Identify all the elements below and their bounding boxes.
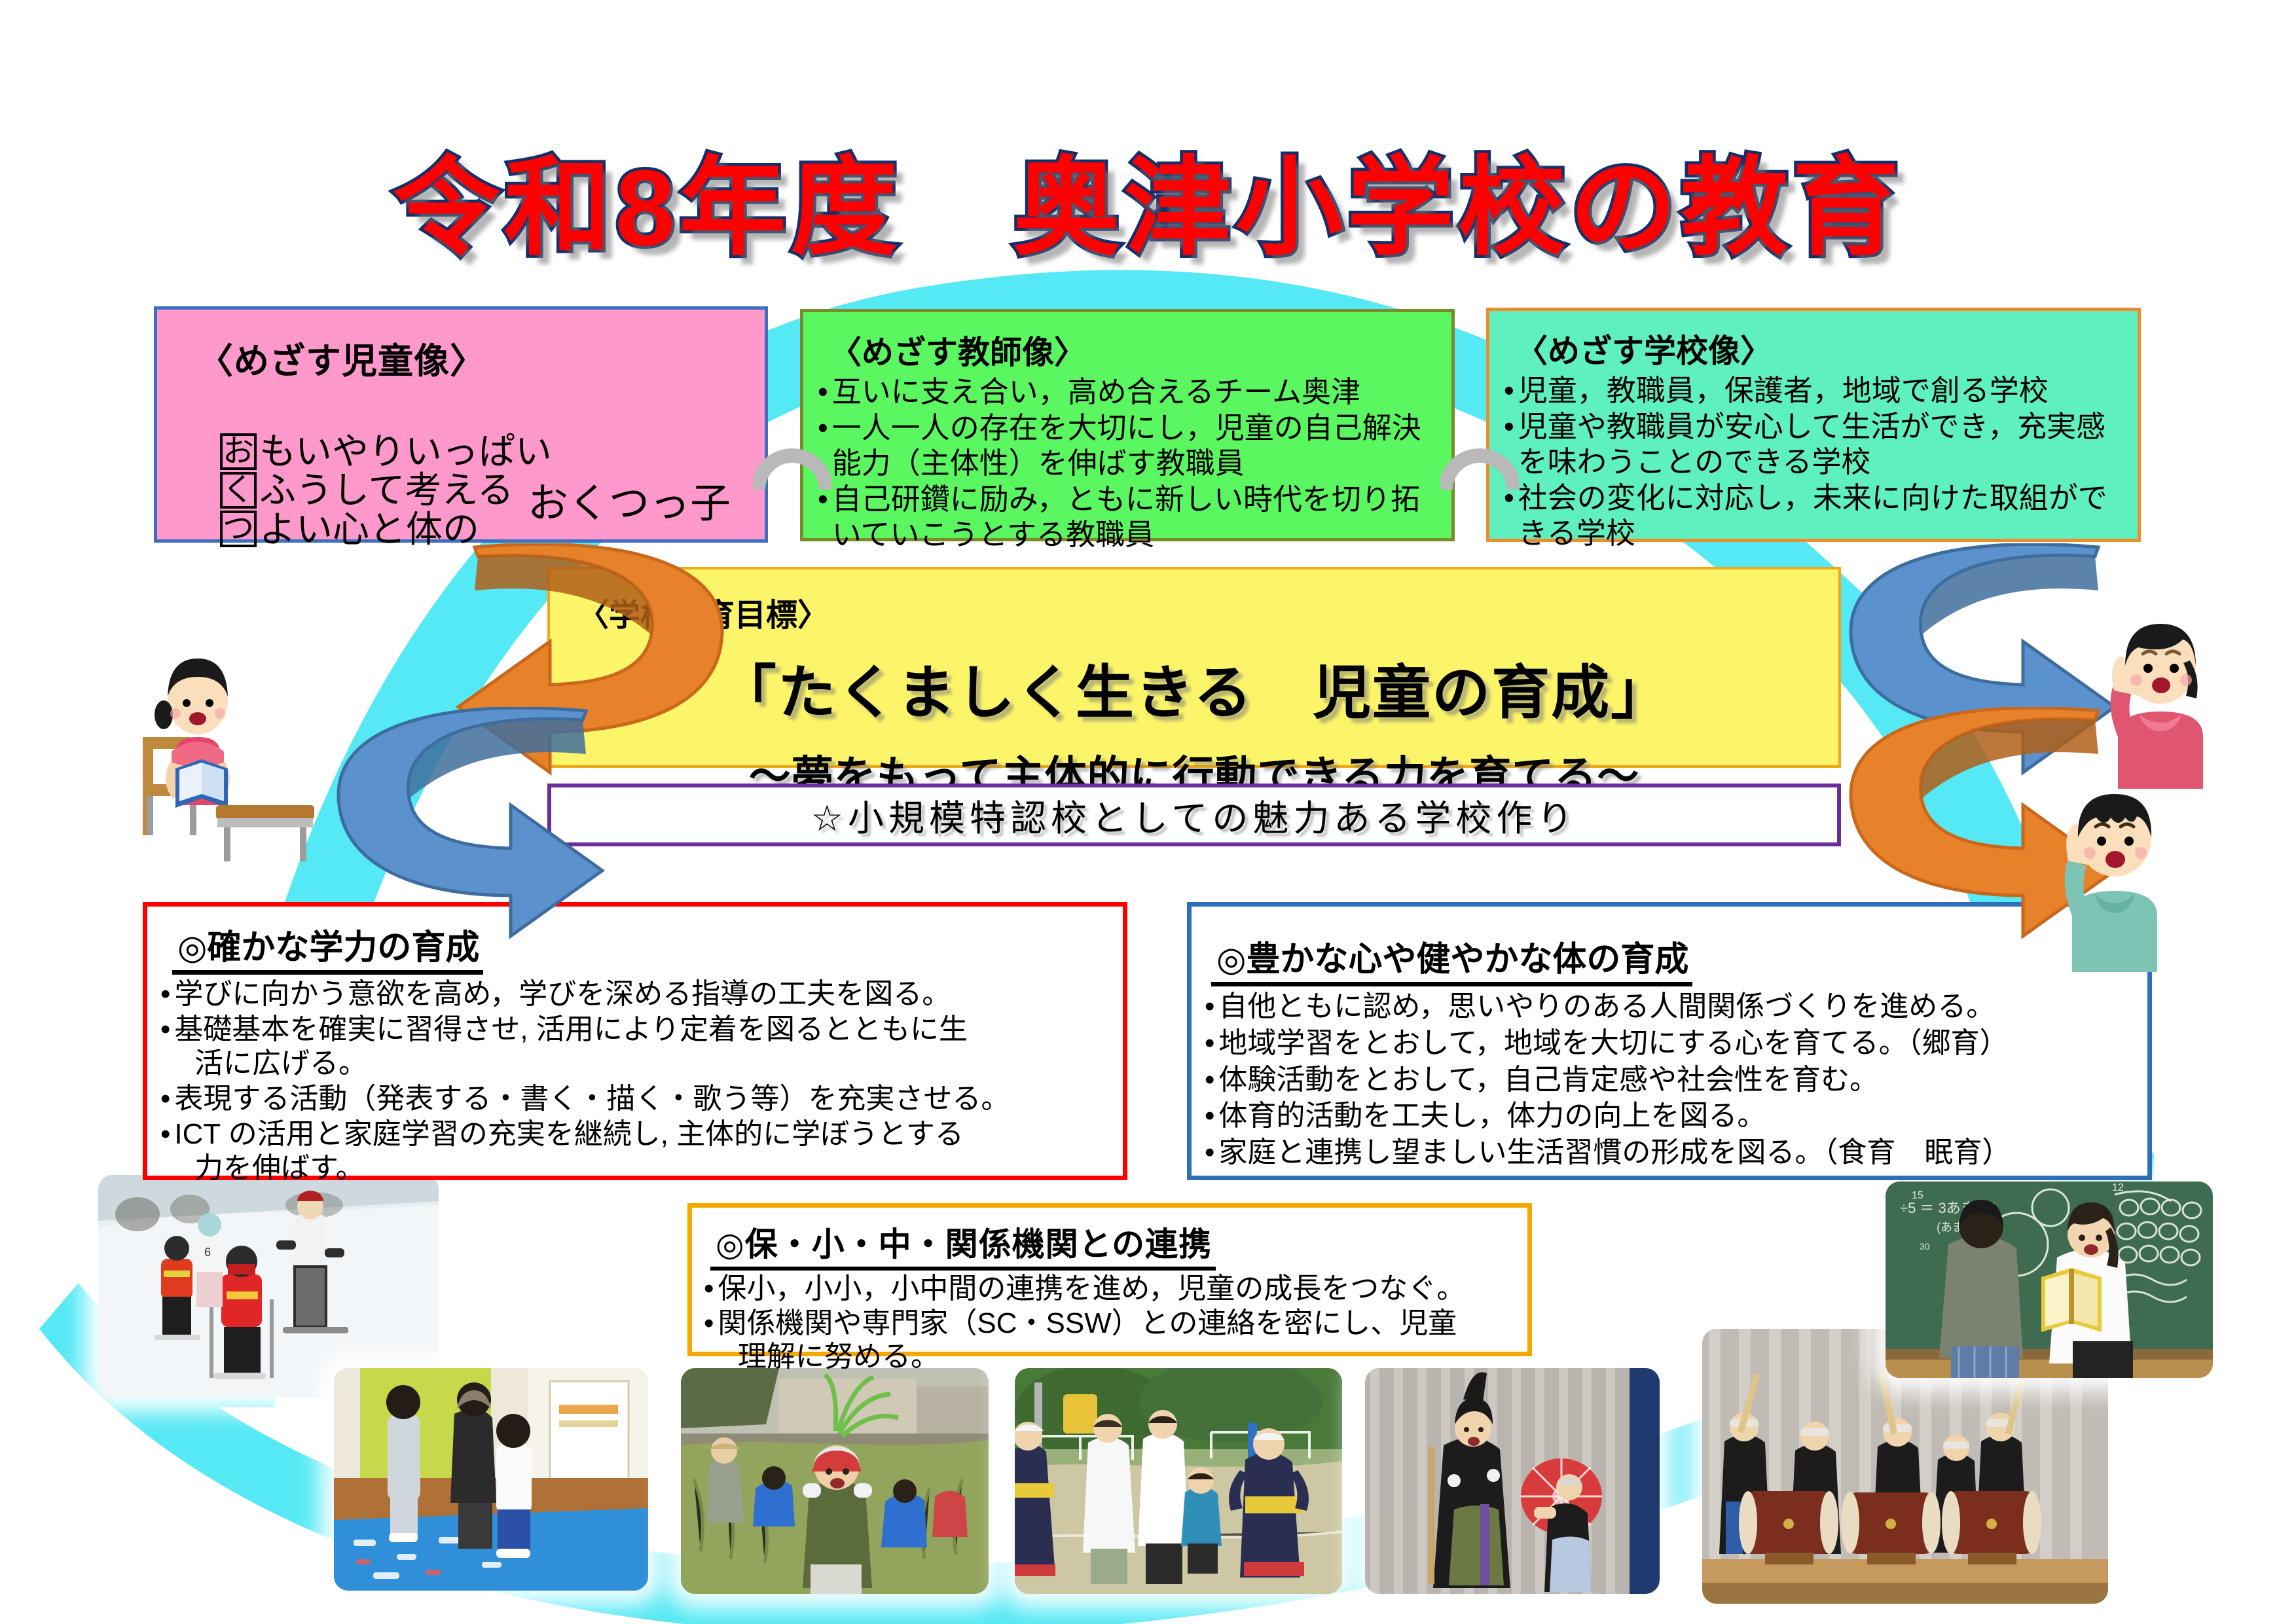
bullet-icon: • (160, 1013, 170, 1047)
list-item: •自己研鑽に励み，ともに新しい時代を切り拓いていこうとする教職員 (818, 482, 1438, 552)
list-item: •社会の変化に対応し，未来に向けた取組ができる学校 (1504, 480, 2124, 551)
academic-item-2-cont: 活に広げる。 (194, 1047, 1111, 1081)
svg-text:15: 15 (1912, 1190, 1923, 1201)
girl-reading-at-desk-illustration (137, 609, 321, 871)
teacher-item-3: 自己研鑽に励み，ともに新しい時代を切り拓いていこうとする教職員 (832, 482, 1438, 552)
list-item: •家庭と連携し望ましい生活習慣の形成を図る。（食育 眠育） (1205, 1136, 2136, 1170)
photo-folk-dance (1015, 1368, 1342, 1594)
curved-arrow-blue-left (295, 707, 766, 1047)
academic-item-4: ICT の活用と家庭学習の充実を継続し, 主体的に学ぼうとする (174, 1117, 963, 1151)
bullet-icon: • (160, 1117, 170, 1151)
heart-item-3: 体験活動をとおして，自己肯定感や社会性を育む。 (1218, 1063, 1878, 1098)
connector-arc-right (1440, 419, 1519, 497)
cooperation-header: ◎保・小・中・関係機関との連携 (710, 1218, 1216, 1271)
bullet-icon: • (704, 1307, 714, 1340)
target-teacher-image-header: 〈めざす教師像〉 (829, 327, 1438, 373)
target-school-image-header: 〈めざす学校像〉 (1516, 325, 2124, 372)
academic-item-4-cont: 力を伸ばす。 (194, 1151, 1111, 1185)
bullet-icon: • (160, 1082, 170, 1116)
cooperation-item-1: 保小，小小，小中間の連携を進め，児童の成長をつなぐ。 (718, 1272, 1465, 1305)
list-item: •表現する活動（発表する・書く・描く・歌う等）を充実させる。 (160, 1082, 1111, 1116)
bullet-icon: • (1504, 373, 1514, 408)
target-school-image-box: 〈めざす学校像〉 •児童，教職員，保護者，地域で創る学校 •児童や教職員が安心し… (1486, 308, 2141, 542)
list-item: •体験活動をとおして，自己肯定感や社会性を育む。 (1205, 1063, 2136, 1098)
list-item: •互いに支え合い，高め合えるチーム奥津 (818, 374, 1438, 410)
bullet-icon: • (818, 374, 828, 410)
acrostic-key-3: つ (220, 511, 257, 547)
photo-gym-activity (334, 1368, 648, 1591)
bullet-icon: • (1205, 1026, 1214, 1061)
bullet-icon: • (704, 1272, 714, 1305)
bullet-icon: • (1205, 1136, 1214, 1170)
poster-root: 令和8年度 奥津小学校の教育 (0, 0, 2296, 1624)
teacher-item-2: 一人一人の存在を大切にし，児童の自己解決能力（主体性）を伸ばす教職員 (832, 410, 1438, 481)
target-child-image-box: 〈めざす児童像〉 お もいやりいっぱい く ふうして考える つ よい心と体の お… (154, 306, 768, 543)
cooperation-item-2-cont: 理解に努める。 (738, 1340, 1517, 1373)
list-item: •児童，教職員，保護者，地域で創る学校 (1504, 373, 2124, 408)
list-item: •関係機関や専門家（SC・SSW）との連絡を密にし、児童 (704, 1307, 1517, 1340)
academic-item-3: 表現する活動（発表する・書く・描く・歌う等）を充実させる。 (174, 1082, 1010, 1116)
svg-text:6: 6 (204, 1246, 211, 1259)
list-item: •保小，小小，小中間の連携を進め，児童の成長をつなぐ。 (704, 1272, 1517, 1305)
list-item: •一人一人の存在を大切にし，児童の自己解決能力（主体性）を伸ばす教職員 (818, 410, 1438, 481)
cooperation-item-2: 関係機関や専門家（SC・SSW）との連絡を密にし、児童 (718, 1307, 1457, 1340)
acrostic-text-2: ふうして考える (259, 471, 514, 509)
svg-text:12: 12 (2112, 1182, 2124, 1193)
school-mascot-label: おくつっ子 (528, 470, 731, 529)
acrostic-key-2: く (220, 472, 257, 509)
bullet-icon: • (1205, 1099, 1214, 1134)
acrostic-text-1: もいやりいっぱい (259, 432, 552, 471)
heart-item-4: 体育的活動を工夫し，体力の向上を図る。 (1218, 1099, 1766, 1134)
target-teacher-image-box: 〈めざす教師像〉 •互いに支え合い，高め合えるチーム奥津 •一人一人の存在を大切… (800, 309, 1455, 541)
school-item-2: 児童や教職員が安心して生活ができ，充実感を味わうことのできる学校 (1518, 409, 2124, 480)
special-school-text: ☆小規模特認校としての魅力ある学校作り (811, 789, 1578, 841)
bullet-icon: • (160, 977, 170, 1011)
svg-text:30: 30 (1920, 1241, 1930, 1252)
bullet-icon: • (1205, 1063, 1214, 1098)
photo-ski-lesson: 6 (98, 1175, 439, 1398)
school-item-3: 社会の変化に対応し，未来に向けた取組ができる学校 (1518, 480, 2124, 551)
connector-arc-left (753, 419, 831, 497)
school-item-1: 児童，教職員，保護者，地域で創る学校 (1518, 373, 2049, 408)
photo-rice-harvest (681, 1368, 989, 1594)
boy-raising-hand-illustration (2039, 756, 2190, 972)
acrostic-row: お もいやりいっぱい (220, 432, 742, 471)
photo-traditional-performance (1365, 1368, 1660, 1594)
list-item: •体育的活動を工夫し，体力の向上を図る。 (1205, 1099, 2136, 1134)
cooperation-box: ◎保・小・中・関係機関との連携 •保小，小小，小中間の連携を進め，児童の成長をつ… (687, 1203, 1532, 1356)
bullet-icon: • (1205, 990, 1214, 1024)
heart-and-body-header: ◎豊かな心や健やかな体の育成 (1211, 931, 1692, 986)
list-item: •ICT の活用と家庭学習の充実を継続し, 主体的に学ぼうとする (160, 1117, 1111, 1151)
target-child-image-header: 〈めざす児童像〉 (198, 332, 742, 384)
heart-item-5: 家庭と連携し望ましい生活習慣の形成を図る。（食育 眠育） (1218, 1136, 2011, 1170)
acrostic-key-1: お (220, 433, 257, 470)
list-item: •児童や教職員が安心して生活ができ，充実感を味わうことのできる学校 (1504, 409, 2124, 480)
photo-classroom-math: ÷5 ＝ 3あまり1 (あまり) 15 30 12 (1886, 1182, 2213, 1378)
teacher-item-1: 互いに支え合い，高め合えるチーム奥津 (832, 374, 1360, 410)
page-title: 令和8年度 奥津小学校の教育 (0, 152, 2296, 264)
